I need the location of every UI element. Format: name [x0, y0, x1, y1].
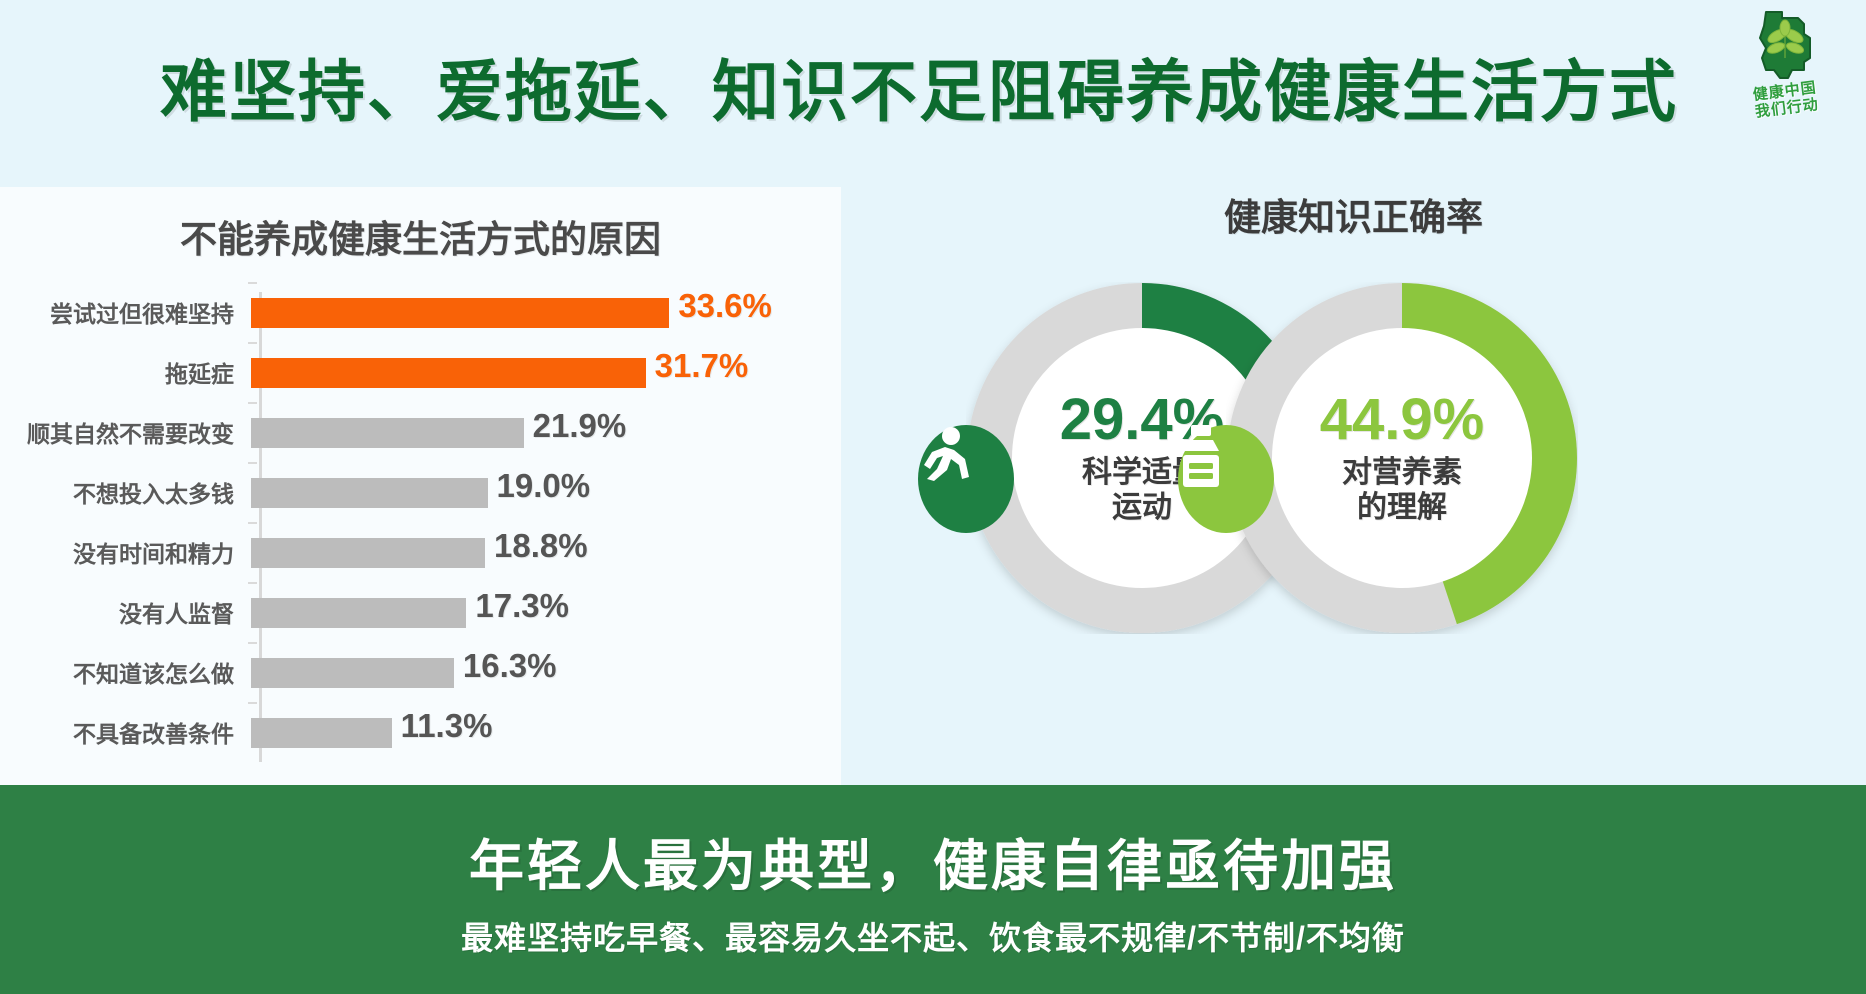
bar-row: 顺其自然不需要改变21.9%: [0, 402, 841, 462]
donut-chart-section: 健康知识正确率 29.4%科学适量运动44.9%对营养素的理解: [841, 187, 1866, 785]
donut-label-line2: 运动: [1112, 490, 1172, 525]
bar-track: 31.7%: [248, 342, 841, 402]
axis-tick: [248, 582, 257, 584]
bar-track: 21.9%: [248, 402, 841, 462]
bar-fill: [251, 478, 488, 508]
bar-row: 没有时间和精力18.8%: [0, 522, 841, 582]
donut-label-line1: 对营养素: [1342, 455, 1462, 490]
bar-track: 33.6%: [248, 282, 841, 342]
donut-chart: 44.9%对营养素的理解: [1226, 282, 1578, 634]
donut-center: 44.9%对营养素的理解: [1272, 328, 1532, 588]
bar-fill: [251, 658, 454, 688]
bar-fill: [251, 718, 392, 748]
bar-chart-panel: 不能养成健康生活方式的原因 尝试过但很难坚持33.6%拖延症31.7%顺其自然不…: [0, 187, 841, 785]
donut-badge-running-person-icon: [918, 425, 1014, 533]
bar-chart-plot: 尝试过但很难坚持33.6%拖延症31.7%顺其自然不需要改变21.9%不想投入太…: [0, 282, 841, 772]
bar-category-label: 不具备改善条件: [0, 715, 248, 749]
bar-row: 不知道该怎么做16.3%: [0, 642, 841, 702]
axis-tick: [248, 282, 257, 284]
axis-tick: [248, 462, 257, 464]
healthy-china-logo: 健康中国 我们行动: [1734, 8, 1838, 138]
bar-value-label: 21.9%: [533, 407, 627, 445]
donut-percentage: 44.9%: [1320, 391, 1484, 449]
supplement-bottle-icon: [1178, 425, 1224, 487]
footer-subtitle: 最难坚持吃早餐、最容易久坐不起、饮食最不规律/不节制/不均衡: [461, 913, 1405, 959]
bar-row: 不具备改善条件11.3%: [0, 702, 841, 762]
bar-track: 18.8%: [248, 522, 841, 582]
bar-category-label: 没有人监督: [0, 595, 248, 629]
bar-track: 19.0%: [248, 462, 841, 522]
bar-category-label: 拖延症: [0, 355, 248, 389]
running-person-icon: [918, 425, 970, 481]
bar-fill: [251, 358, 646, 388]
leaf-map-logo-icon: [1752, 8, 1820, 88]
bar-value-label: 19.0%: [497, 467, 591, 505]
donut-label-line2: 的理解: [1357, 490, 1447, 525]
bar-fill: [251, 598, 466, 628]
bar-category-label: 尝试过但很难坚持: [0, 295, 248, 329]
axis-tick: [248, 642, 257, 644]
footer-headline: 年轻人最为典型，健康自律亟待加强: [469, 821, 1397, 901]
bar-category-label: 不知道该怎么做: [0, 655, 248, 689]
bar-category-label: 没有时间和精力: [0, 535, 248, 569]
bar-track: 17.3%: [248, 582, 841, 642]
bar-fill: [251, 418, 524, 448]
bar-fill: [251, 298, 669, 328]
bar-track: 16.3%: [248, 642, 841, 702]
donut-badge-supplement-bottle-icon: [1178, 425, 1274, 533]
axis-tick: [248, 402, 257, 404]
footer-banner: 年轻人最为典型，健康自律亟待加强 最难坚持吃早餐、最容易久坐不起、饮食最不规律/…: [0, 785, 1866, 994]
axis-tick: [248, 522, 257, 524]
bar-row: 不想投入太多钱19.0%: [0, 462, 841, 522]
header-banner: 难坚持、爱拖延、知识不足阻碍养成健康生活方式 健康中国 我们行动: [0, 0, 1866, 187]
bar-row: 拖延症31.7%: [0, 342, 841, 402]
bar-chart-title: 不能养成健康生活方式的原因: [0, 209, 841, 263]
bar-value-label: 18.8%: [494, 527, 588, 565]
axis-tick: [248, 342, 257, 344]
donut-section-title: 健康知识正确率: [841, 187, 1866, 241]
bar-category-label: 顺其自然不需要改变: [0, 415, 248, 449]
bar-value-label: 33.6%: [678, 287, 772, 325]
bar-row: 尝试过但很难坚持33.6%: [0, 282, 841, 342]
bar-track: 11.3%: [248, 702, 841, 762]
bar-value-label: 31.7%: [655, 347, 749, 385]
bar-row: 没有人监督17.3%: [0, 582, 841, 642]
page-title: 难坚持、爱拖延、知识不足阻碍养成健康生活方式: [160, 38, 1678, 135]
bar-fill: [251, 538, 485, 568]
bar-value-label: 11.3%: [401, 707, 493, 745]
bar-value-label: 17.3%: [475, 587, 569, 625]
bar-value-label: 16.3%: [463, 647, 557, 685]
axis-tick: [248, 702, 257, 704]
logo-text: 健康中国 我们行动: [1732, 78, 1839, 124]
bar-category-label: 不想投入太多钱: [0, 475, 248, 509]
